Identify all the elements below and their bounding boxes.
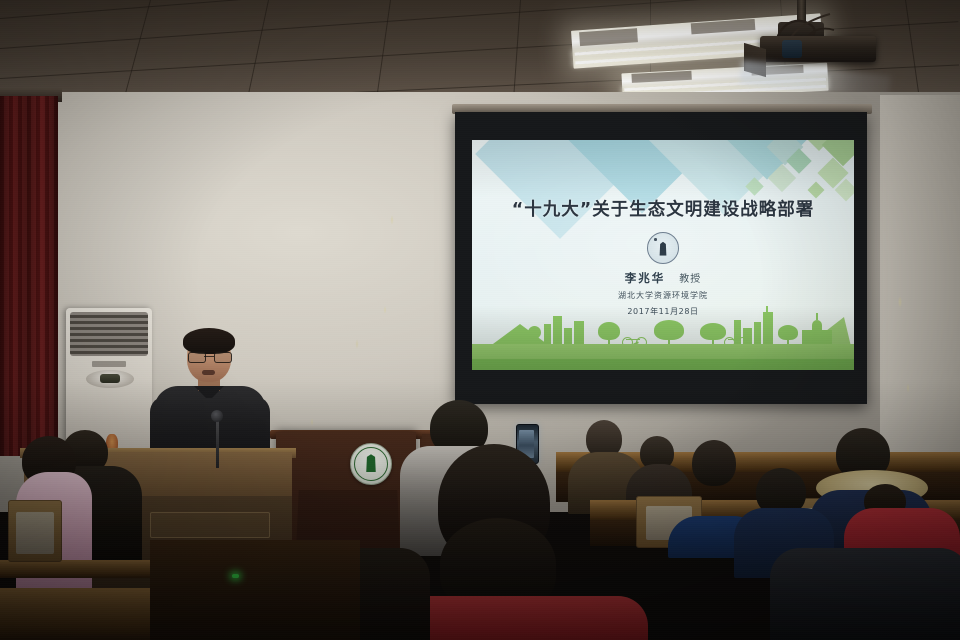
audience-torso-dark xyxy=(770,548,960,640)
air-conditioner-display-panel[interactable] xyxy=(86,370,134,388)
eco-ground-stripe xyxy=(472,359,854,370)
slide-title: “十九大”关于生态文明建设战略部署 xyxy=(472,196,854,221)
air-conditioner-grille xyxy=(70,312,148,356)
presenter-role: 教授 xyxy=(679,274,701,285)
presenter-glasses-icon xyxy=(188,352,230,361)
projector-lens xyxy=(782,40,802,58)
bench-row-left-panel xyxy=(150,540,360,640)
projector-body xyxy=(760,36,876,62)
bench-row-left-lower xyxy=(0,588,170,640)
air-conditioner-logo xyxy=(92,361,126,367)
slide-background: “十九大”关于生态文明建设战略部署 李兆华教授 湖北大学资源环境学院 2017年… xyxy=(472,140,854,370)
microphone-stand xyxy=(216,418,219,468)
slide-presenter-line: 李兆华教授 xyxy=(472,270,854,286)
status-led-indicator xyxy=(232,574,239,578)
slide-eco-skyline xyxy=(472,314,854,370)
seat-pad-left xyxy=(16,512,54,554)
wall-curtain xyxy=(0,96,58,456)
presenter-figure xyxy=(150,330,270,465)
presenter-hair xyxy=(183,328,235,354)
slide-organization: 湖北大学资源环境学院 xyxy=(472,290,854,301)
front-desk-inset xyxy=(150,512,270,538)
presenter-mouth xyxy=(202,370,215,375)
lecture-hall-photo: “十九大”关于生态文明建设战略部署 李兆华教授 湖北大学资源环境学院 2017年… xyxy=(0,0,960,640)
projected-slide: “十九大”关于生态文明建设战略部署 李兆华教授 湖北大学资源环境学院 2017年… xyxy=(472,140,854,370)
lectern-university-crest-icon xyxy=(350,443,392,485)
university-emblem-icon xyxy=(647,232,679,264)
microphone-icon xyxy=(211,410,223,422)
presenter-name: 李兆华 xyxy=(625,271,666,285)
